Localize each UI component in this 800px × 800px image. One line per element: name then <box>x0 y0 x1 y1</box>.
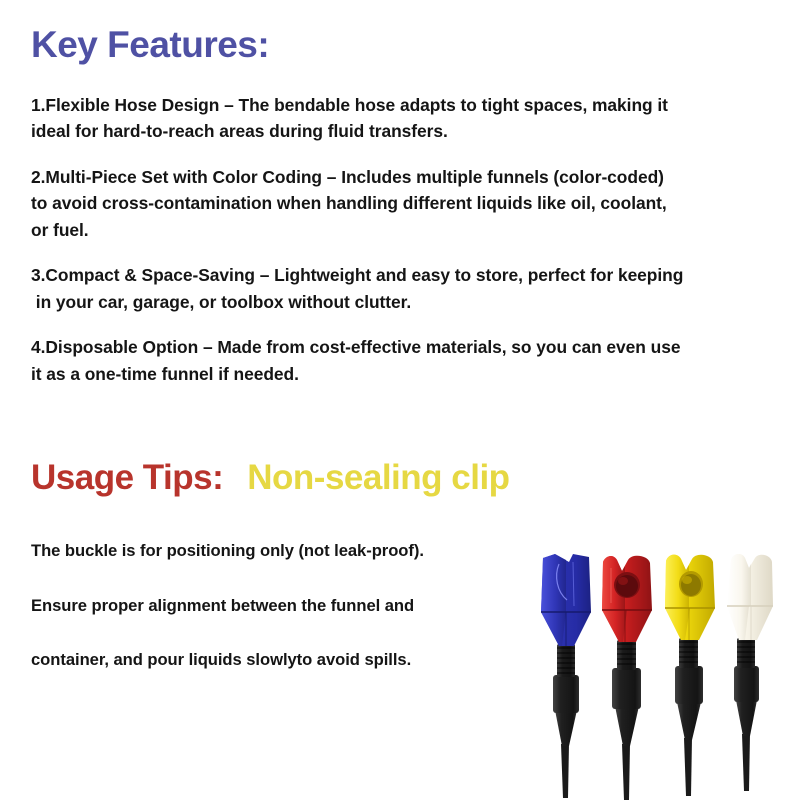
feature-line: ideal for hard-to-reach areas during flu… <box>31 118 776 144</box>
feature-line: or fuel. <box>31 217 776 243</box>
usage-tips-heading-row: Usage Tips: Non-sealing clip <box>31 460 510 495</box>
feature-line: 1.Flexible Hose Design – The bendable ho… <box>31 92 776 118</box>
funnel-product-image <box>533 548 795 800</box>
white-funnel <box>727 554 773 791</box>
yellow-funnel <box>665 555 715 796</box>
feature-line: in your car, garage, or toolbox without … <box>31 289 776 315</box>
page-root: Key Features: 1.Flexible Hose Design – T… <box>0 0 800 800</box>
non-sealing-clip-subheading: Non-sealing clip <box>247 460 509 495</box>
list-item: 1.Flexible Hose Design – The bendable ho… <box>31 92 776 145</box>
usage-tip-line: The buckle is for positioning only (not … <box>31 543 531 560</box>
list-item: 2.Multi-Piece Set with Color Coding – In… <box>31 164 776 243</box>
usage-tip-line: Ensure proper alignment between the funn… <box>31 598 531 615</box>
feature-line: 2.Multi-Piece Set with Color Coding – In… <box>31 164 776 190</box>
blue-funnel <box>541 554 591 798</box>
feature-line: 4.Disposable Option – Made from cost-eff… <box>31 334 776 360</box>
key-features-heading: Key Features: <box>31 26 269 65</box>
key-features-list: 1.Flexible Hose Design – The bendable ho… <box>31 92 776 387</box>
usage-tip-line: container, and pour liquids slowlyto avo… <box>31 652 531 669</box>
usage-tips-heading: Usage Tips: <box>31 460 223 495</box>
list-item: 4.Disposable Option – Made from cost-eff… <box>31 334 776 387</box>
feature-line: 3.Compact & Space-Saving – Lightweight a… <box>31 262 776 288</box>
feature-line: to avoid cross-contamination when handli… <box>31 190 776 216</box>
red-funnel <box>602 556 652 800</box>
usage-tips-body: The buckle is for positioning only (not … <box>31 543 531 669</box>
feature-line: it as a one-time funnel if needed. <box>31 361 776 387</box>
list-item: 3.Compact & Space-Saving – Lightweight a… <box>31 262 776 315</box>
